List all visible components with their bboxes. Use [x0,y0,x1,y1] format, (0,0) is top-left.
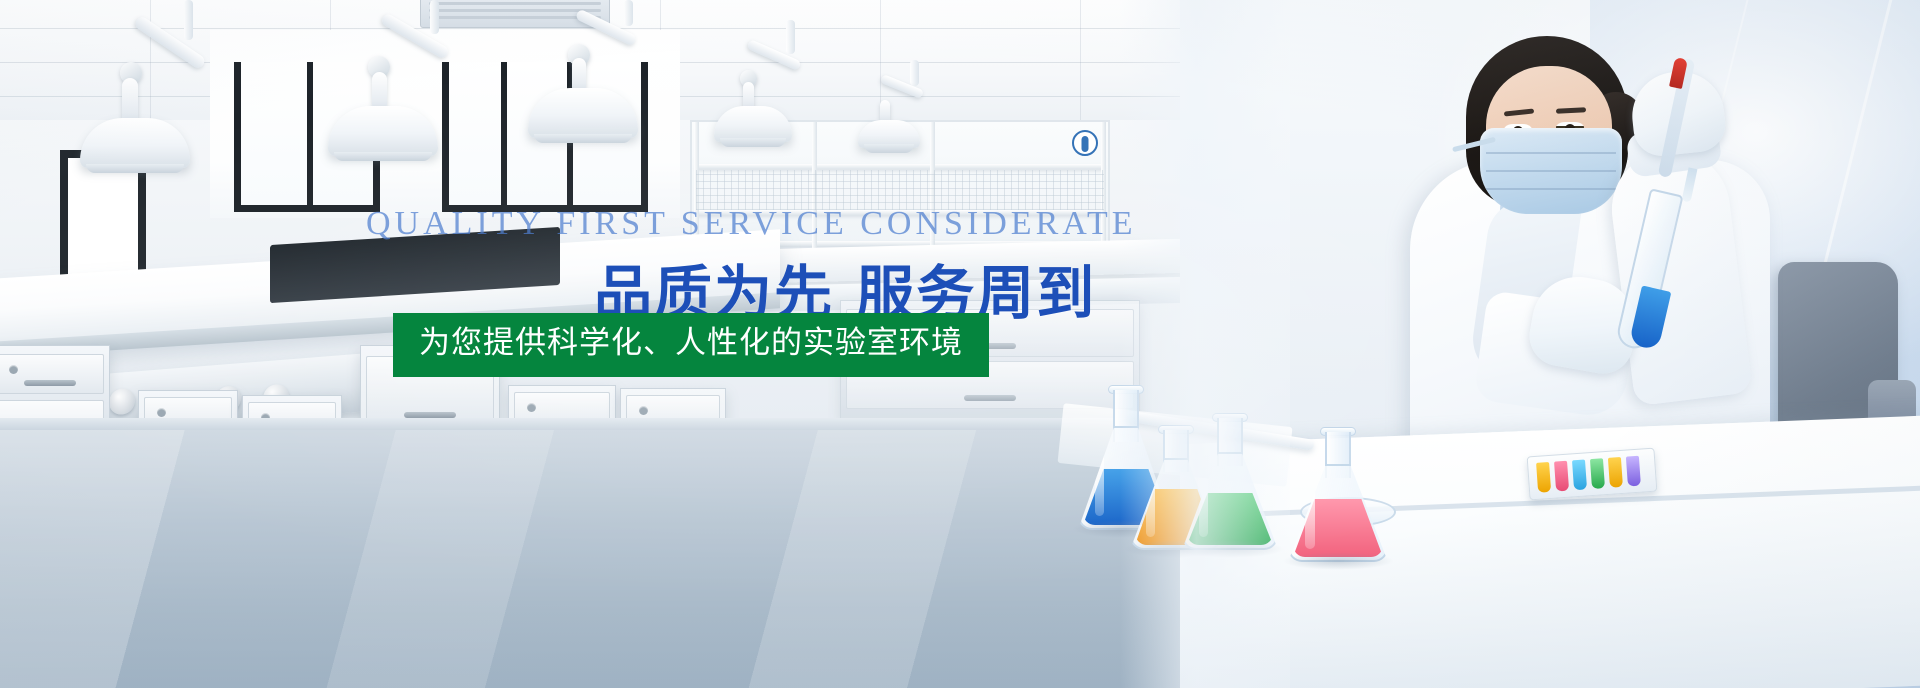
laboratory-hero-banner: QUALITY FIRST SERVICE CONSIDERATE 品质为先 服… [0,0,1920,688]
subtitle-text: 为您提供科学化、人性化的实验室环境 [419,326,963,362]
subtitle-bar: 为您提供科学化、人性化的实验室环境 [393,313,989,377]
text-overlay: QUALITY FIRST SERVICE CONSIDERATE 品质为先 服… [0,0,1920,688]
english-tagline: QUALITY FIRST SERVICE CONSIDERATE [366,205,1137,243]
